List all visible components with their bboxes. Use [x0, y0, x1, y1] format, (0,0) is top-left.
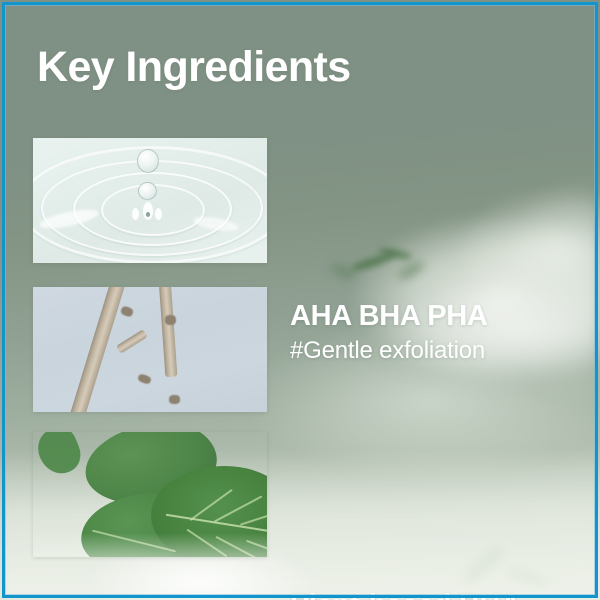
- willow-branch-photo: [33, 287, 267, 412]
- ingredient-headline: Plant-based BHA: [290, 590, 521, 600]
- ingredient-text-2: Plant-based BHA #Removes dead skin cells: [290, 590, 521, 600]
- water-drop-icon: [138, 182, 157, 200]
- leaf-photo-glow: [33, 533, 267, 557]
- key-ingredients-infographic: Key Ingredients AHA BHA PHA #Gentle exfo…: [0, 0, 600, 600]
- branch-stem: [67, 287, 125, 412]
- branch-stem: [116, 329, 148, 354]
- ingredient-text-1: AHA BHA PHA #Gentle exfoliation: [290, 301, 488, 365]
- ingredient-image-willow-branch-photo: [33, 287, 267, 412]
- water-splash: [132, 208, 139, 220]
- centella-leaf-photo: [33, 432, 267, 557]
- water-drop-icon: [137, 149, 159, 173]
- ingredient-headline: AHA BHA PHA: [290, 301, 488, 332]
- water-splash: [143, 202, 153, 220]
- branch-knot: [120, 305, 134, 318]
- branch-knot: [165, 315, 176, 325]
- water-splash: [146, 212, 150, 217]
- ingredient-benefit: #Gentle exfoliation: [290, 337, 488, 365]
- ingredient-image-centella-leaf-photo: [33, 432, 267, 557]
- water-splash: [155, 208, 162, 220]
- water-droplet-ripple-photo: [33, 138, 267, 263]
- page-title: Key Ingredients: [37, 46, 351, 89]
- leaf-shape: [33, 432, 86, 480]
- branch-stem: [159, 287, 177, 377]
- branch-knot: [137, 373, 152, 385]
- branch-knot: [169, 395, 180, 404]
- ingredient-image-water-droplet-ripple-photo: [33, 138, 267, 263]
